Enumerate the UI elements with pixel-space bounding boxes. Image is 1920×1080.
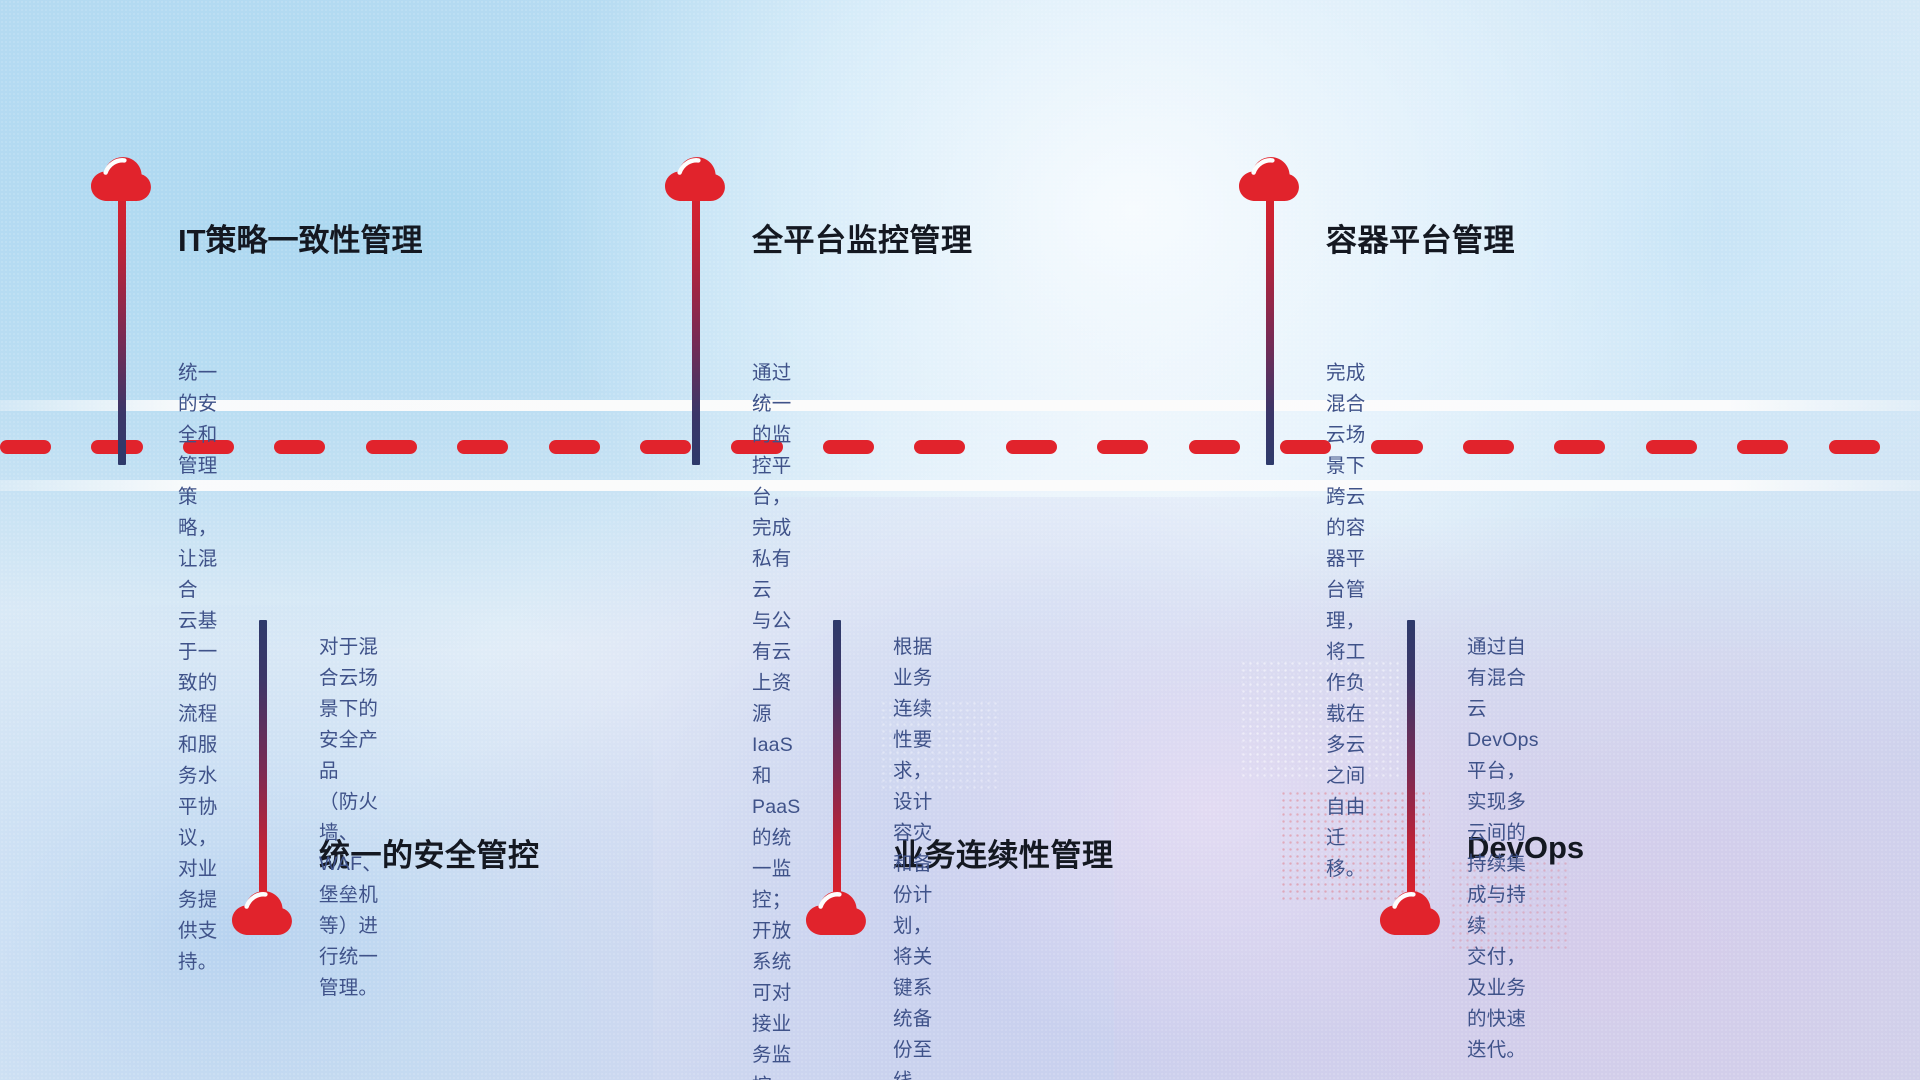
road-center-dash: [914, 440, 965, 454]
road-edge-top: [0, 400, 1920, 411]
item-description: 通过统一的监控平台，完成私有云 与公有云上资源IaaS和PaaS的统 一监控；开…: [752, 358, 801, 1080]
infographic-canvas: IT策略一致性管理统一的安全和管理策略，让混合 云基于一致的流程和服务水平协 议…: [0, 0, 1920, 1080]
item-description: 对于混合云场景下的安全产品 （防火墙、WAF、堡垒机等）进 行统一管理。: [319, 632, 382, 1004]
cloud-icon: [664, 156, 726, 202]
road-center-dash: [1554, 440, 1605, 454]
road-center-dash: [1829, 440, 1880, 454]
connector-line: [833, 620, 841, 910]
cloud-icon: [231, 890, 293, 936]
item-title: IT策略一致性管理: [178, 215, 423, 260]
road-center-dash: [549, 440, 600, 454]
item-title: 全平台监控管理: [752, 215, 973, 260]
road-center-line: [0, 440, 1920, 454]
road-center-dash: [823, 440, 874, 454]
road-center-dash: [640, 440, 691, 454]
road-center-dash: [1006, 440, 1057, 454]
road-center-dash: [1280, 440, 1331, 454]
road-center-dash: [0, 440, 51, 454]
connector-line: [259, 620, 267, 910]
road-center-dash: [1737, 440, 1788, 454]
dot-cluster-white-a: [1240, 660, 1400, 780]
item-title: 容器平台管理: [1326, 215, 1515, 260]
road-center-dash: [1097, 440, 1148, 454]
cloud-icon: [805, 890, 867, 936]
road-edge-bottom: [0, 480, 1920, 491]
connector-line: [118, 175, 126, 465]
item-description: 通过自有混合云DevOps平台， 实现多云间的持续集成与持续 交付，及业务的快速…: [1467, 632, 1539, 1066]
item-description: 根据业务连续性要求，设计容灾 和备份计划，将关键系统备份至 线上/线下，并定期校…: [893, 632, 932, 1080]
road-center-dash: [1189, 440, 1240, 454]
connector-line: [1407, 620, 1415, 910]
cloud-icon: [1379, 890, 1441, 936]
connector-line: [1266, 175, 1274, 465]
connector-line: [692, 175, 700, 465]
item-description: 完成混合云场景下跨云的容器平 台管理，将工作负载在多云之间 自由迁移。: [1326, 358, 1365, 885]
road-center-dash: [457, 440, 508, 454]
road-center-dash: [1371, 440, 1422, 454]
road-center-dash: [366, 440, 417, 454]
road-center-dash: [1463, 440, 1514, 454]
cloud-icon: [1238, 156, 1300, 202]
cloud-icon: [90, 156, 152, 202]
road-center-dash: [274, 440, 325, 454]
road-center-dash: [1646, 440, 1697, 454]
item-description: 统一的安全和管理策略，让混合 云基于一致的流程和服务水平协 议，对业务提供支持。: [178, 358, 217, 978]
